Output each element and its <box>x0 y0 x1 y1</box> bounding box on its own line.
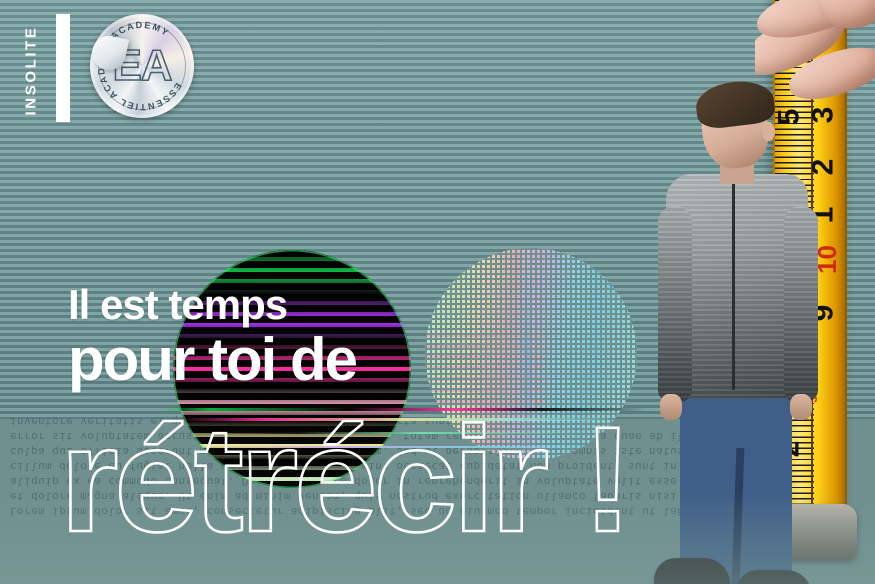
halftone-dot-circle <box>425 248 637 460</box>
headline-line-2: pour toi de <box>68 331 356 390</box>
standing-man-icon <box>640 88 830 558</box>
page-title: Il est temps pour toi de <box>68 284 356 390</box>
man-hand-right <box>790 394 812 420</box>
man-ear <box>762 122 775 141</box>
certification-seal-icon: ACADEMY ESSENTIEL ACADEMY EA <box>90 14 194 118</box>
man-hand-left <box>660 394 682 420</box>
man-zipper <box>732 184 735 390</box>
man-arm-left <box>658 206 692 402</box>
halftone-dot-mask <box>425 248 637 460</box>
headline-line-1: Il est temps <box>68 284 356 325</box>
poster-canvas: Lorem ipsum dolor sit amet, consectetur … <box>0 0 875 584</box>
category-label: INSOLITE <box>14 18 48 122</box>
man-arm-right <box>784 206 818 402</box>
category-label-text: INSOLITE <box>23 25 40 115</box>
category-divider-bar <box>56 14 70 122</box>
ground-gradient <box>0 492 875 584</box>
